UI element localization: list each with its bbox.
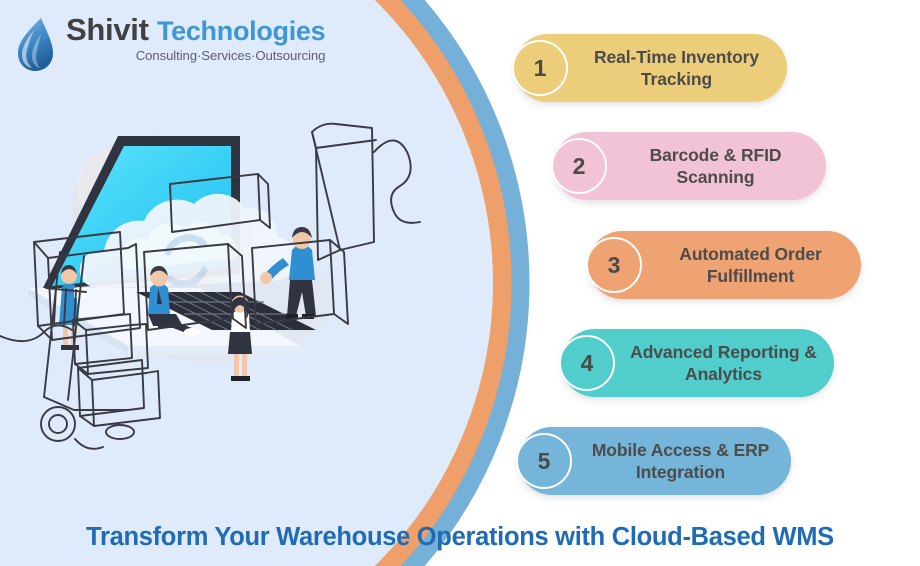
feature-badge-5: 5 — [516, 433, 572, 489]
feature-number-5: 5 — [538, 448, 551, 475]
feature-pill-4[interactable]: 4 Advanced Reporting & Analytics — [561, 329, 834, 397]
feature-pill-2[interactable]: 2 Barcode & RFID Scanning — [553, 132, 826, 200]
feature-label-3: Automated Order Fulfillment — [656, 243, 845, 288]
feature-badge-1: 1 — [512, 40, 568, 96]
feature-label-5: Mobile Access & ERP Integration — [586, 439, 775, 484]
feature-badge-3: 3 — [586, 237, 642, 293]
feature-badge-4: 4 — [559, 335, 615, 391]
feature-pill-1[interactable]: 1 Real-Time Inventory Tracking — [514, 34, 787, 102]
feature-number-4: 4 — [581, 350, 594, 377]
feature-label-1: Real-Time Inventory Tracking — [582, 46, 771, 91]
feature-label-2: Barcode & RFID Scanning — [621, 144, 810, 189]
infographic-canvas: Shivit Technologies Consulting·Services·… — [0, 0, 920, 566]
feature-number-3: 3 — [608, 252, 621, 279]
feature-list: 1 Real-Time Inventory Tracking 2 Barcode… — [0, 0, 920, 520]
feature-badge-2: 2 — [551, 138, 607, 194]
feature-label-4: Advanced Reporting & Analytics — [629, 341, 818, 386]
feature-pill-3[interactable]: 3 Automated Order Fulfillment — [588, 231, 861, 299]
feature-pill-5[interactable]: 5 Mobile Access & ERP Integration — [518, 427, 791, 495]
feature-number-1: 1 — [534, 55, 547, 82]
page-headline: Transform Your Warehouse Operations with… — [0, 523, 920, 552]
feature-number-2: 2 — [573, 153, 586, 180]
